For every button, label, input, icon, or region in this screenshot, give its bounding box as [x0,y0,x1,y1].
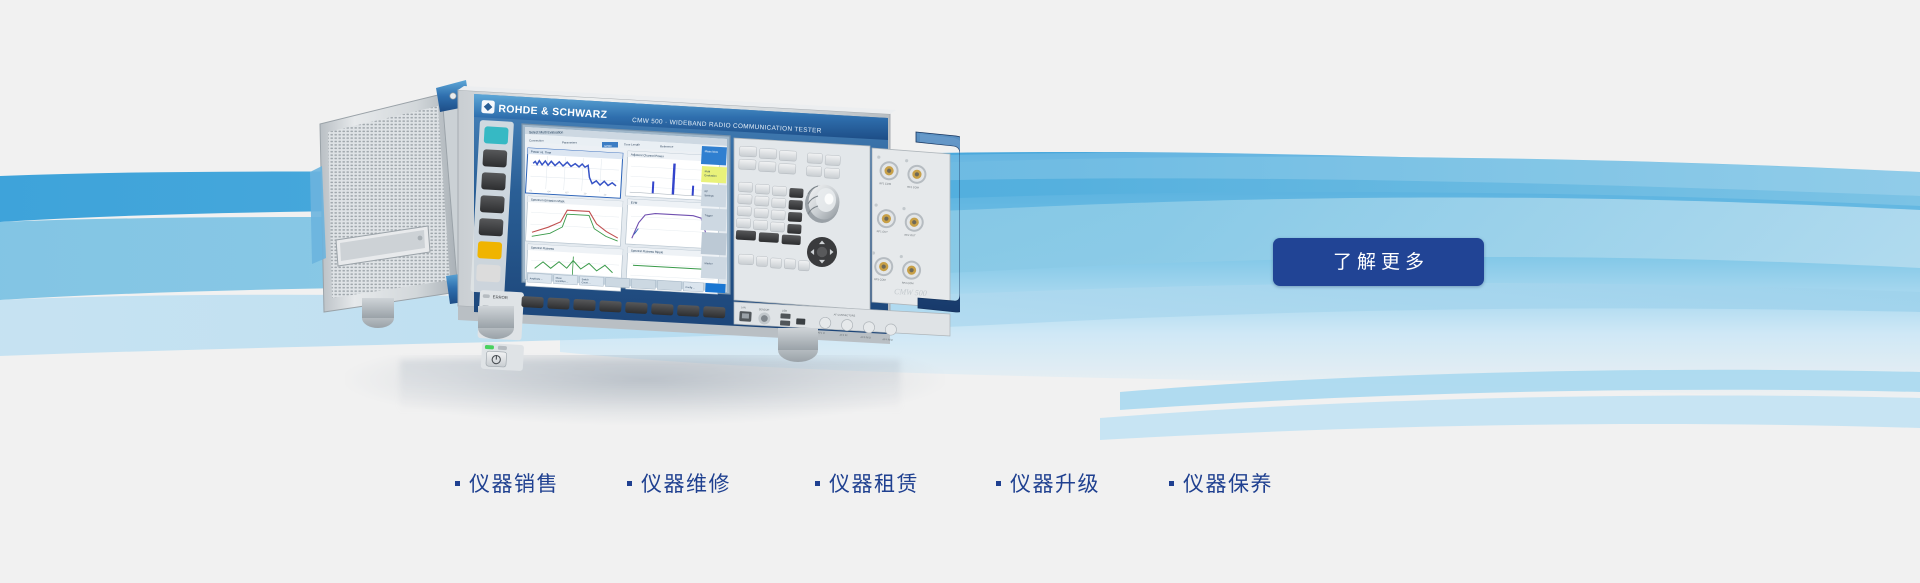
hardkey-signal-gen[interactable] [739,146,757,157]
key-unit-1[interactable] [789,188,804,198]
svg-text:Settings: Settings [704,193,714,198]
key-fn1[interactable] [738,254,754,265]
usb-port-2[interactable] [780,320,790,326]
key-2[interactable] [754,208,769,218]
key-setup[interactable] [480,195,505,213]
hw-softkey-1[interactable] [547,297,570,309]
key-undo[interactable] [759,232,779,243]
key-reset[interactable] [484,126,509,144]
hardkey-on-off[interactable] [807,153,823,164]
svg-text:Count ...: Count ... [581,281,591,285]
hardkey-tasks[interactable] [739,159,757,170]
softkey-screen-7[interactable] [705,283,725,293]
key-unit-4[interactable] [787,224,802,234]
screen-title: Select Multi Evaluation [529,131,563,135]
hw-softkey-7[interactable] [703,306,726,318]
learn-more-button[interactable]: 了解更多 [1273,238,1484,286]
hardkey-data[interactable] [759,161,777,172]
service-label-1: 仪器维修 [641,468,731,498]
menu-trigger[interactable] [701,208,727,231]
svg-text:Reference: Reference [660,144,674,148]
bullet-icon [996,481,1001,486]
led-label-error: ERROR [493,294,508,300]
wave-arc-lower-right [1100,395,1920,440]
key-8[interactable] [755,184,770,194]
service-list: 仪器销售 仪器维修 仪器租赁 仪器升级 仪器保养 [455,468,1465,498]
svg-text:Multi: Multi [705,169,711,173]
hw-softkey-5[interactable] [651,303,674,315]
hardkey-esc[interactable] [825,155,841,166]
hero-banner: ROHDE & SCHWARZ CMW 500 · WIDEBAND RADIO… [0,0,1920,583]
key-dot[interactable] [753,220,768,230]
wave-arc-upper-right [1120,370,1920,410]
svg-text:RF1 COM: RF1 COM [879,181,891,186]
softkey-label-7: Config ... [685,286,695,290]
instrument-screen[interactable]: Select Multi Evaluation Connection Param… [522,124,730,294]
rf-connector-panel: RF1 COMRF2 COM RF1 OUTRF2 OUT RF3 COMRF4… [870,148,950,308]
svg-text:Evaluation: Evaluation [704,173,717,178]
key-unit-3[interactable] [788,212,803,222]
key-9[interactable] [772,186,787,196]
plot-power-vs-time: Power vs. Time 0.10.4 0.71.01.3 [525,148,622,198]
af-port-3[interactable] [863,321,875,333]
corner-logo: CMW 500 [894,287,927,298]
io-label-lan: LAN [741,306,746,309]
wave-dark-band [0,157,1920,222]
bullet-icon [627,481,632,486]
key-save-rcl[interactable] [481,172,506,190]
hw-softkey-3[interactable] [599,300,622,312]
key-fn2[interactable] [756,256,768,267]
cmw500-instrument: ROHDE & SCHWARZ CMW 500 · WIDEBAND RADIO… [310,62,960,392]
bullet-icon [1169,481,1174,486]
svg-text:RF2 COM: RF2 COM [907,185,919,190]
service-item-1[interactable]: 仪器维修 [627,468,815,498]
svg-text:RF1 OUT: RF1 OUT [877,229,889,234]
instrument-side-panel [310,80,478,312]
svg-text:AF3 IN/O: AF3 IN/O [860,336,871,340]
service-label-4: 仪器保养 [1183,468,1273,498]
menu-blank-1[interactable] [701,232,727,255]
service-label-2: 仪器租赁 [829,468,919,498]
hardkey-enter[interactable] [824,168,840,179]
svg-text:RF: RF [704,189,708,193]
aux-led [498,346,507,350]
svg-text:RF3 COM: RF3 COM [874,277,886,282]
hardkey-signal-rx[interactable] [779,150,797,161]
svg-text:Time Length: Time Length [624,142,640,146]
service-item-2[interactable]: 仪器租赁 [815,468,996,498]
hw-softkey-0[interactable] [521,296,544,308]
key-fn3[interactable] [770,258,782,269]
usb-port-1[interactable] [780,313,790,319]
softkey-screen-4[interactable] [631,279,655,289]
key-4[interactable] [738,194,753,204]
io-label-sensor: SENSOR [759,308,770,312]
service-label-0: 仪器销售 [469,468,559,498]
key-7[interactable] [738,182,753,192]
key-3[interactable] [771,210,786,220]
power-button[interactable] [481,343,524,371]
service-item-0[interactable]: 仪器销售 [455,468,627,498]
bullet-icon [455,481,460,486]
svg-text:Marker: Marker [704,261,712,265]
navigation-pad[interactable] [807,237,837,267]
hardkey-tab[interactable] [806,166,822,177]
service-item-4[interactable]: 仪器保养 [1169,468,1273,498]
key-fn5[interactable] [798,260,810,271]
key-save[interactable] [482,149,507,167]
usb-port-3[interactable] [796,318,805,324]
service-item-3[interactable]: 仪器升级 [996,468,1169,498]
hardkey-measure[interactable] [759,148,777,159]
power-led [485,345,494,349]
key-print[interactable] [479,218,504,236]
key-1[interactable] [737,206,752,216]
key-5[interactable] [755,196,770,206]
wave-lower-band [0,283,1920,356]
led-error [483,294,490,298]
plot-title-3: EVM [631,201,638,205]
af-port-4[interactable] [885,324,897,336]
io-label-usb: USB [782,309,788,312]
hw-softkey-6[interactable] [677,305,700,317]
svg-text:AF4 IN/O: AF4 IN/O [882,338,893,342]
hw-softkey-2[interactable] [573,299,596,311]
key-back-space[interactable] [736,230,756,241]
key-sys[interactable] [476,264,501,282]
hw-softkey-4[interactable] [625,302,648,314]
key-unit-2[interactable] [788,200,803,210]
plot-spectrum-emission-mask: Spectrum Emission Mask [525,196,622,246]
svg-text:Trigger: Trigger [704,213,712,217]
svg-text:Parameters: Parameters [562,140,577,144]
svg-text:AF1 O: AF1 O [818,331,825,334]
svg-text:Connection: Connection [529,138,544,142]
softkey-screen-5[interactable] [657,280,681,290]
wave-mid-band [0,197,1920,300]
svg-text:AF2 IN: AF2 IN [839,334,847,337]
menu-label-0: Meas Now [705,149,719,154]
svg-text:RF4 COM: RF4 COM [902,281,914,286]
key-6[interactable] [772,198,787,208]
hardkey-info[interactable] [778,163,796,174]
af-port-2[interactable] [841,319,853,331]
key-0[interactable] [736,218,751,228]
af-port-1[interactable] [819,317,831,329]
bullet-icon [815,481,820,486]
key-fn4[interactable] [784,259,796,270]
svg-text:RF2 OUT: RF2 OUT [904,233,916,238]
service-label-3: 仪器升级 [1010,468,1100,498]
keypad-region [734,138,870,310]
svg-text:GPRF: GPRF [604,144,612,148]
key-enter-2[interactable] [781,235,801,246]
softkey-screen-3[interactable] [605,277,629,287]
menu-marker[interactable] [701,256,727,279]
key-help[interactable] [477,241,502,259]
key-sign[interactable] [770,222,785,232]
